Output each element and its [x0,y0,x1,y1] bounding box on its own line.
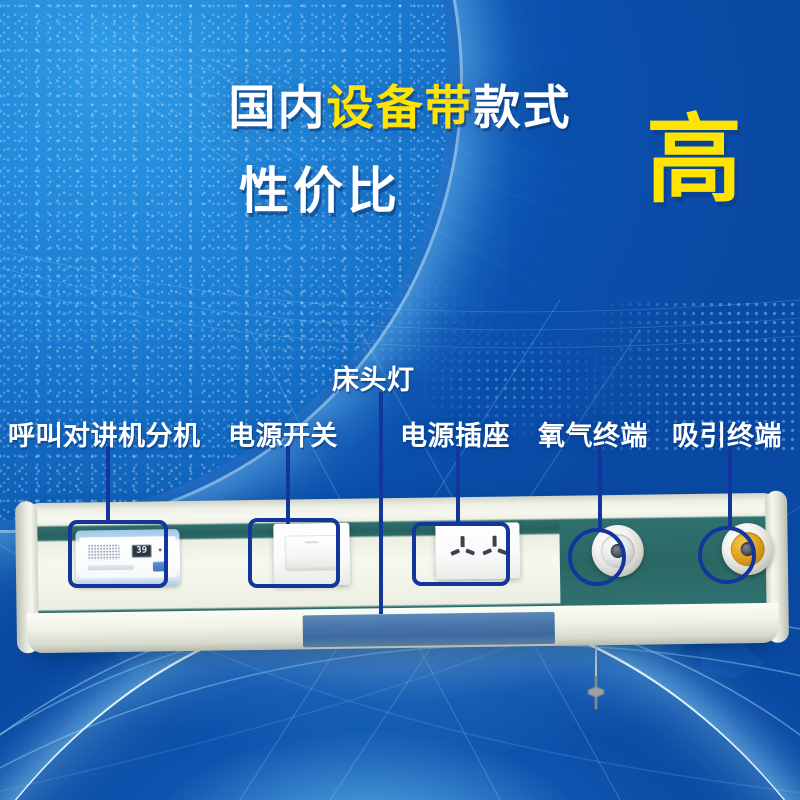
leader-line-power-socket [456,446,460,524]
callout-label-intercom: 呼叫对讲机分机 [8,414,201,453]
highlight-box-power-socket [412,522,510,586]
callout-label-oxygen: 氧气终端 [538,414,648,453]
callout-label-power-switch: 电源开关 [228,414,338,453]
callout-label-power-socket: 电源插座 [400,414,510,453]
callout-label-bed-lamp: 床头灯 [332,358,415,397]
leader-line-oxygen [598,446,602,530]
leader-line-bed-lamp [379,392,383,614]
callout-group: 呼叫对讲机分机 电源开关 床头灯 电源插座 氧气终端 吸引终端 [0,0,800,800]
highlight-box-oxygen [568,528,626,586]
leader-line-power-switch [286,446,290,524]
product-banner: 国内设备带款式 性价比 高 呼叫对讲机分机 电源开关 床头灯 电源插座 氧气终端… [0,0,800,800]
highlight-box-intercom [68,520,168,588]
highlight-box-power-switch [248,518,340,588]
highlight-box-suction [698,526,756,584]
leader-line-suction [728,446,732,530]
callout-label-suction: 吸引终端 [672,414,782,453]
leader-line-intercom [106,446,110,522]
